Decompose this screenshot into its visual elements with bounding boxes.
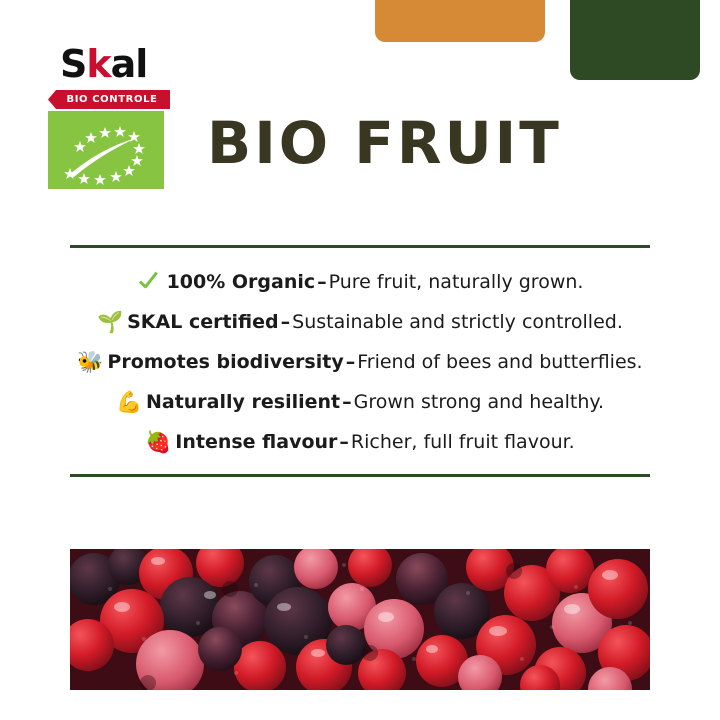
benefit-title: 100% Organic <box>167 271 316 293</box>
bio-controle-banner: BIO CONTROLE <box>48 90 170 109</box>
list-item: 100% Organic–Pure fruit, naturally grown… <box>70 262 650 302</box>
skal-wordmark-suffix: al <box>111 42 148 86</box>
benefits-section: 100% Organic–Pure fruit, naturally grown… <box>70 245 650 477</box>
bio-fruit-poster: Skal BIO CONTROLE <box>0 0 720 720</box>
skal-bio-controle-logo: Skal BIO CONTROLE <box>48 42 174 189</box>
flexed-biceps-icon: 💪 <box>116 392 140 413</box>
benefit-title: SKAL certified <box>127 311 279 333</box>
benefit-text: Naturally resilient–Grown strong and hea… <box>146 387 604 417</box>
benefit-dash: – <box>337 431 351 453</box>
mixed-frozen-berries-photo <box>70 549 650 690</box>
honeybee-icon: 🐝 <box>77 352 101 373</box>
benefit-text: Promotes biodiversity–Friend of bees and… <box>107 347 642 377</box>
skal-wordmark-prefix: S <box>60 42 86 86</box>
page-title: BIO FRUIT <box>207 112 562 174</box>
benefit-title: Promotes biodiversity <box>107 351 343 373</box>
benefit-title: Intense flavour <box>175 431 337 453</box>
benefit-text: Intense flavour–Richer, full fruit flavo… <box>175 427 574 457</box>
benefit-dash: – <box>315 271 329 293</box>
divider-bottom <box>70 474 650 477</box>
check-mark-icon <box>137 271 161 293</box>
benefit-dash: – <box>340 391 354 413</box>
benefit-dash: – <box>279 311 293 333</box>
eu-organic-leaf-icon <box>48 111 164 189</box>
skal-wordmark-accent: k <box>86 42 110 86</box>
list-item: 🐝 Promotes biodiversity–Friend of bees a… <box>70 342 650 382</box>
list-item: 🌱 SKAL certified–Sustainable and strictl… <box>70 302 650 342</box>
orange-accent-bar <box>375 0 545 42</box>
seedling-icon: 🌱 <box>97 312 121 333</box>
benefit-description: Pure fruit, naturally grown. <box>329 271 584 293</box>
benefit-text: 100% Organic–Pure fruit, naturally grown… <box>167 267 584 297</box>
bio-controle-label: BIO CONTROLE <box>48 90 170 109</box>
list-item: 🍓 Intense flavour–Richer, full fruit fla… <box>70 422 650 462</box>
benefit-description: Grown strong and healthy. <box>354 391 604 413</box>
benefits-list: 100% Organic–Pure fruit, naturally grown… <box>70 248 650 474</box>
list-item: 💪 Naturally resilient–Grown strong and h… <box>70 382 650 422</box>
benefit-description: Richer, full fruit flavour. <box>351 431 575 453</box>
benefit-dash: – <box>344 351 358 373</box>
benefit-description: Sustainable and strictly controlled. <box>292 311 623 333</box>
skal-wordmark: Skal <box>48 42 174 86</box>
green-accent-bar <box>570 0 700 80</box>
benefit-description: Friend of bees and butterflies. <box>357 351 642 373</box>
strawberry-icon: 🍓 <box>145 432 169 453</box>
benefit-title: Naturally resilient <box>146 391 340 413</box>
benefit-text: SKAL certified–Sustainable and strictly … <box>127 307 623 337</box>
